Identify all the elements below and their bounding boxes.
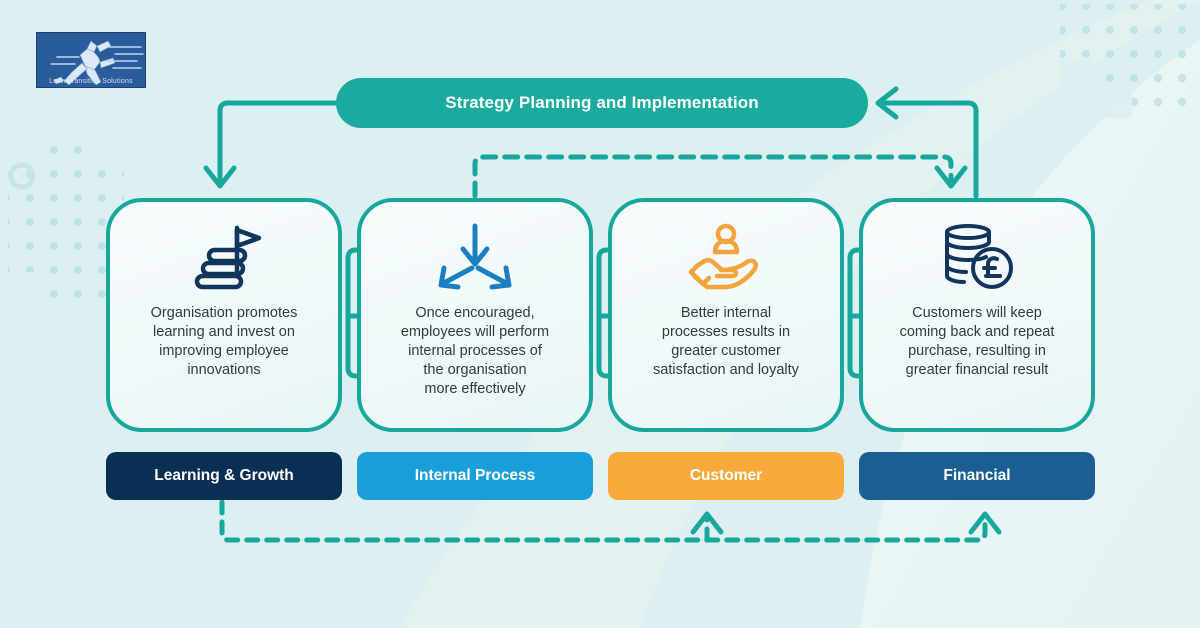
- banner-title: Strategy Planning and Implementation: [445, 93, 758, 113]
- connector-financial-to-banner: [882, 103, 976, 196]
- arrowhead-up-financial: [971, 514, 999, 532]
- label-text-financial: Financial: [943, 467, 1010, 485]
- card-learning-growth[interactable]: Organisation promotes learning and inves…: [106, 198, 342, 432]
- card-text-customer: Better internal processes results in gre…: [639, 304, 813, 380]
- card-text-internal-process: Once encouraged, employees will perform …: [387, 304, 563, 399]
- arrowhead-down-card-four: [937, 168, 965, 186]
- dot-grid-right: [1060, 4, 1200, 118]
- connector-banner-to-learning-growth: [220, 103, 336, 182]
- card-text-financial: Customers will keep coming back and repe…: [886, 304, 1069, 380]
- card-internal-process[interactable]: Once encouraged, employees will perform …: [357, 198, 593, 432]
- company-logo: Lean Transition Solutions: [36, 32, 146, 88]
- card-customer[interactable]: Better internal processes results in gre…: [608, 198, 844, 432]
- label-learning-growth[interactable]: Learning & Growth: [106, 452, 342, 500]
- connector-card-two-to-three: [599, 258, 607, 376]
- arrowhead-down-card-one: [206, 168, 234, 186]
- arrowhead-up-customer: [693, 514, 721, 532]
- connector-card-two-top-curve: [599, 250, 607, 258]
- hand-holding-person-icon: [681, 218, 771, 298]
- connector-card-three-to-four: [850, 258, 858, 376]
- connector-card-three-top-curve: [850, 250, 858, 258]
- ring-left-icon: [11, 165, 33, 187]
- card-icon-financial: [863, 212, 1091, 304]
- label-text-internal-process: Internal Process: [415, 467, 536, 485]
- label-customer[interactable]: Customer: [608, 452, 844, 500]
- strategy-banner[interactable]: Strategy Planning and Implementation: [336, 78, 868, 128]
- infographic-canvas: Lean Transition Solutions: [0, 0, 1200, 628]
- connector-card-one-to-two: [348, 258, 356, 376]
- card-text-learning-growth: Organisation promotes learning and inves…: [137, 304, 312, 380]
- flag-on-books-icon: [179, 218, 269, 298]
- card-icon-internal-process: [361, 212, 589, 304]
- converging-arrows-icon: [430, 218, 520, 298]
- connector-internal-process-to-financial-top: [475, 157, 951, 196]
- connector-bottom-feedback: [222, 502, 985, 540]
- card-icon-customer: [612, 212, 840, 304]
- label-text-learning-growth: Learning & Growth: [154, 467, 294, 485]
- logo-caption: Lean Transition Solutions: [37, 78, 145, 85]
- connector-card-one-top-curve: [348, 250, 356, 258]
- label-text-customer: Customer: [690, 467, 762, 485]
- label-financial[interactable]: Financial: [859, 452, 1095, 500]
- card-icon-learning-growth: [110, 212, 338, 304]
- label-internal-process[interactable]: Internal Process: [357, 452, 593, 500]
- card-financial[interactable]: Customers will keep coming back and repe…: [859, 198, 1095, 432]
- coin-stack-pound-icon: [932, 218, 1022, 298]
- arrowhead-left-banner: [878, 89, 896, 117]
